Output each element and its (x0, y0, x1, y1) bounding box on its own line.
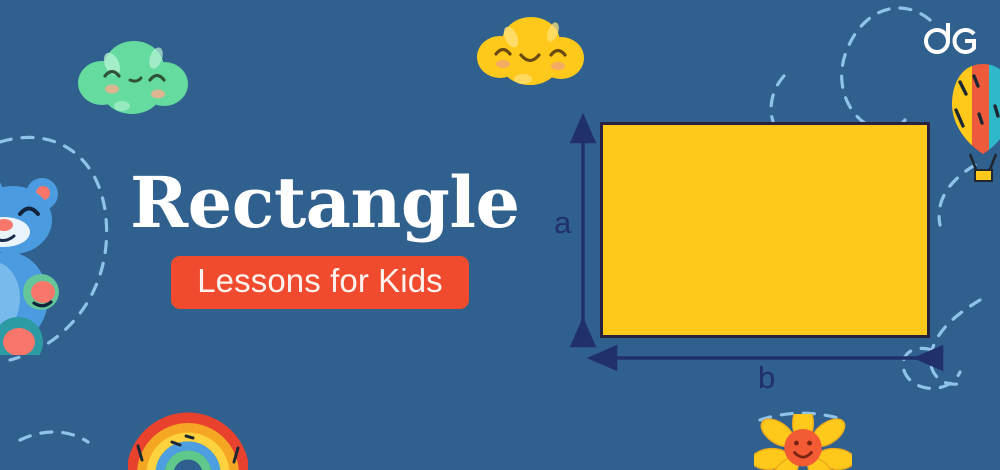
width-label: b (758, 360, 775, 396)
geeksforgeeks-logo[interactable] (919, 17, 981, 59)
rectangle-diagram: a b (540, 100, 960, 410)
subtitle-badge: Lessons for Kids (171, 256, 469, 309)
subtitle-badge-wrap: Lessons for Kids (130, 238, 510, 309)
page-title: Rectangle (130, 168, 510, 238)
headline-block: Rectangle Lessons for Kids (130, 168, 510, 309)
poster-canvas: Rectangle Lessons for Kids a b (0, 0, 1000, 470)
dimension-arrows (540, 100, 960, 410)
height-label: a (554, 205, 571, 241)
dashed-path-flower (760, 413, 845, 420)
dashed-path-bear-foot (20, 432, 88, 442)
dashed-path-left (0, 137, 107, 360)
